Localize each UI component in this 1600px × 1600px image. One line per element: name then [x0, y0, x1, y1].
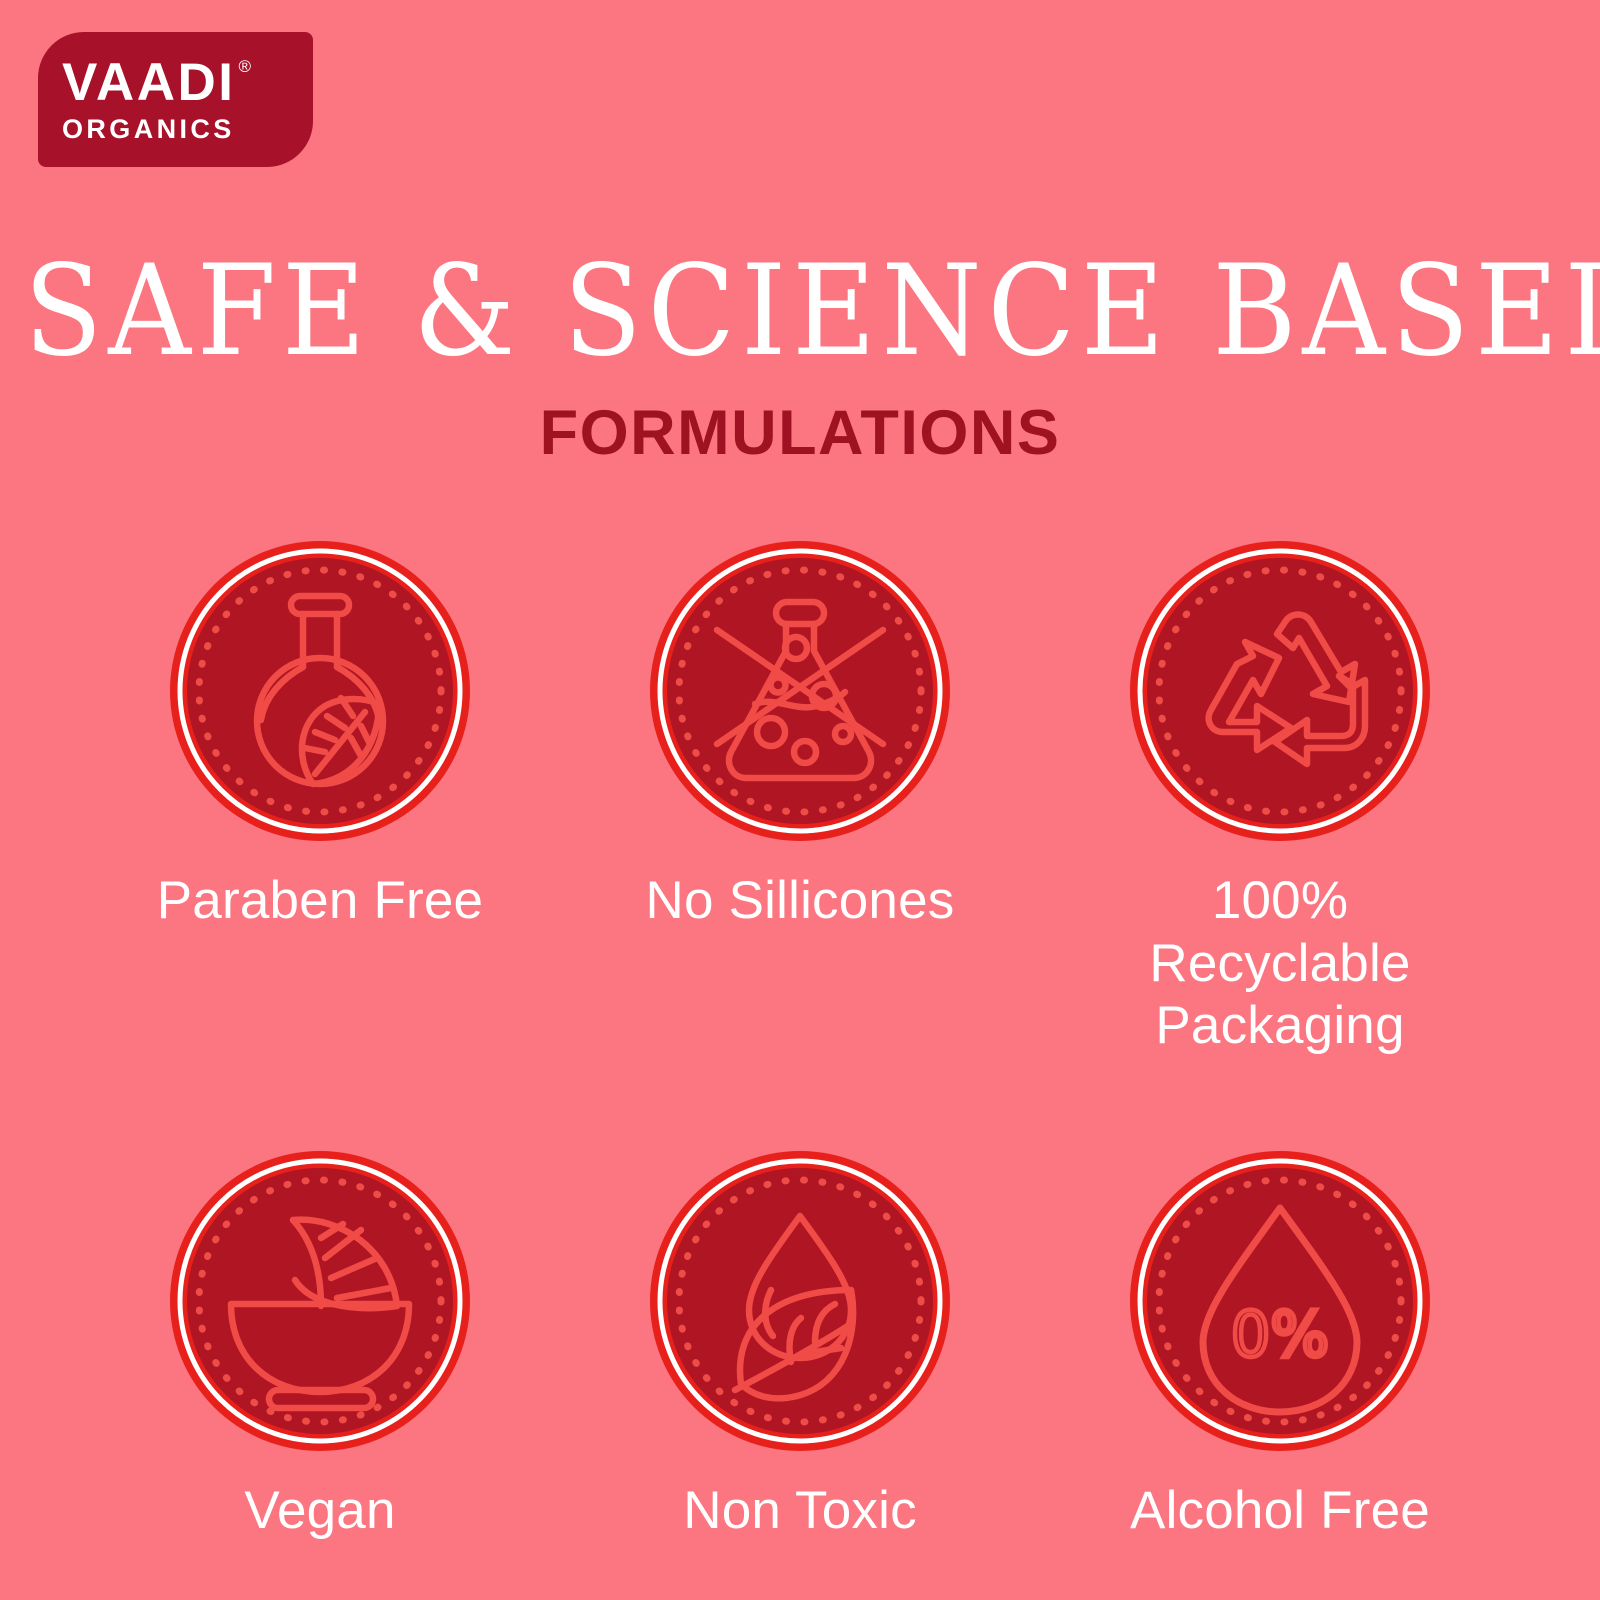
benefit-item-vegan: Vegan [80, 1146, 560, 1543]
benefit-item-non-toxic: Non Toxic [560, 1146, 1040, 1543]
badge-non-toxic [645, 1146, 955, 1456]
badge-recyclable-packaging [1125, 536, 1435, 846]
badge-vegan [165, 1146, 475, 1456]
brand-name: VAADI [62, 56, 235, 109]
benefit-label: Paraben Free [157, 870, 483, 933]
benefit-label: Non Toxic [683, 1480, 917, 1543]
brand-subtitle: ORGANICS [62, 116, 235, 143]
zero-percent-label: 0% [1231, 1298, 1329, 1371]
brand-wordmark-row: VAADI ® [62, 56, 251, 109]
registered-trademark-icon: ® [238, 58, 251, 75]
benefit-label: No Sillicones [646, 870, 955, 933]
benefit-item-recyclable-packaging: 100% Recyclable Packaging [1040, 536, 1520, 1058]
benefit-item-paraben-free: Paraben Free [80, 536, 560, 1058]
benefit-item-no-sillicones: No Sillicones [560, 536, 1040, 1058]
page-subheadline: FORMULATIONS [0, 402, 1600, 465]
badge-no-sillicones [645, 536, 955, 846]
badge-paraben-free [165, 536, 475, 846]
page-headline: SAFE & SCIENCE BASED [24, 248, 1576, 373]
benefit-item-alcohol-free: 0% Alcohol Free [1040, 1146, 1520, 1543]
droplet-zero-percent-icon: 0% [1125, 1146, 1435, 1456]
recycle-arrows-icon [1125, 536, 1435, 846]
flask-round-with-leaf-icon [165, 536, 475, 846]
benefits-grid: Paraben Free [80, 536, 1520, 1542]
benefit-label: 100% Recyclable Packaging [1080, 870, 1480, 1058]
brand-logo: VAADI ® ORGANICS [38, 32, 313, 167]
benefit-label: Vegan [244, 1480, 395, 1543]
crossed-out-erlenmeyer-flask-icon [645, 536, 955, 846]
bowl-with-leaf-icon [165, 1146, 475, 1456]
benefit-label: Alcohol Free [1130, 1480, 1430, 1543]
badge-alcohol-free: 0% [1125, 1146, 1435, 1456]
droplet-with-leaf-icon [645, 1146, 955, 1456]
